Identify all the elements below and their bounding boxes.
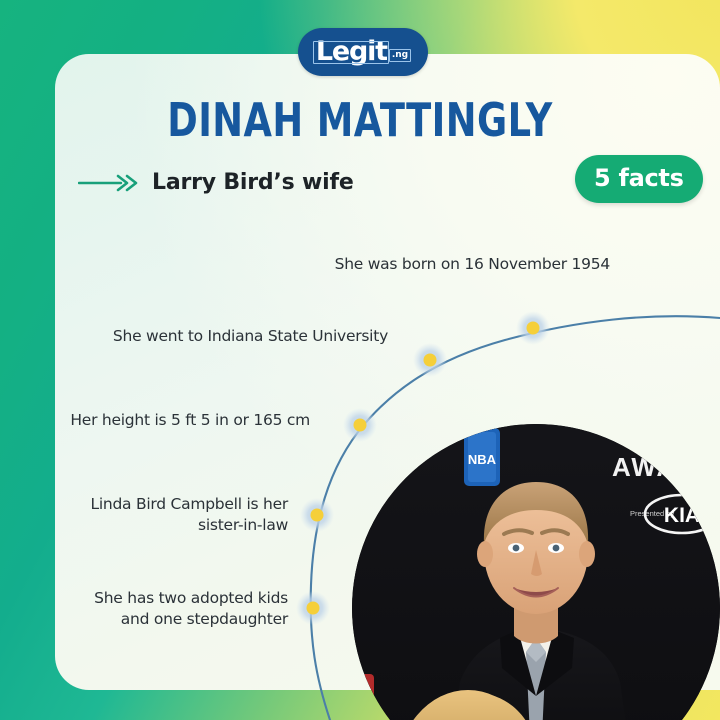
facts-count-badge: 5 facts: [575, 155, 703, 203]
logo-domain-suffix: .ng: [389, 49, 411, 62]
page-subtitle: Larry Bird’s wife: [152, 170, 354, 195]
svg-text:NBA: NBA: [468, 452, 497, 467]
fact-label: She was born on 16 November 1954: [220, 254, 610, 275]
arrow-right-double-chevron-icon: [78, 173, 140, 193]
page-title: DINAH MATTINGLY: [72, 93, 648, 147]
legit-logo[interactable]: Legit .ng: [298, 28, 428, 76]
fact-label: Her height is 5 ft 5 in or 165 cm: [0, 410, 310, 431]
logo-wordmark: Legit .ng: [316, 38, 410, 66]
infographic-root: Legit .ng DINAH MATTINGLY Larry Bird’s w…: [0, 0, 720, 720]
fact-label: She has two adopted kids and one stepdau…: [0, 588, 288, 631]
fact-label: Linda Bird Campbell is her sister-in-law: [0, 494, 288, 537]
fact-label: She went to Indiana State University: [0, 326, 388, 347]
subtitle-row: Larry Bird’s wife: [78, 170, 354, 195]
logo-text: Legit: [316, 38, 387, 65]
